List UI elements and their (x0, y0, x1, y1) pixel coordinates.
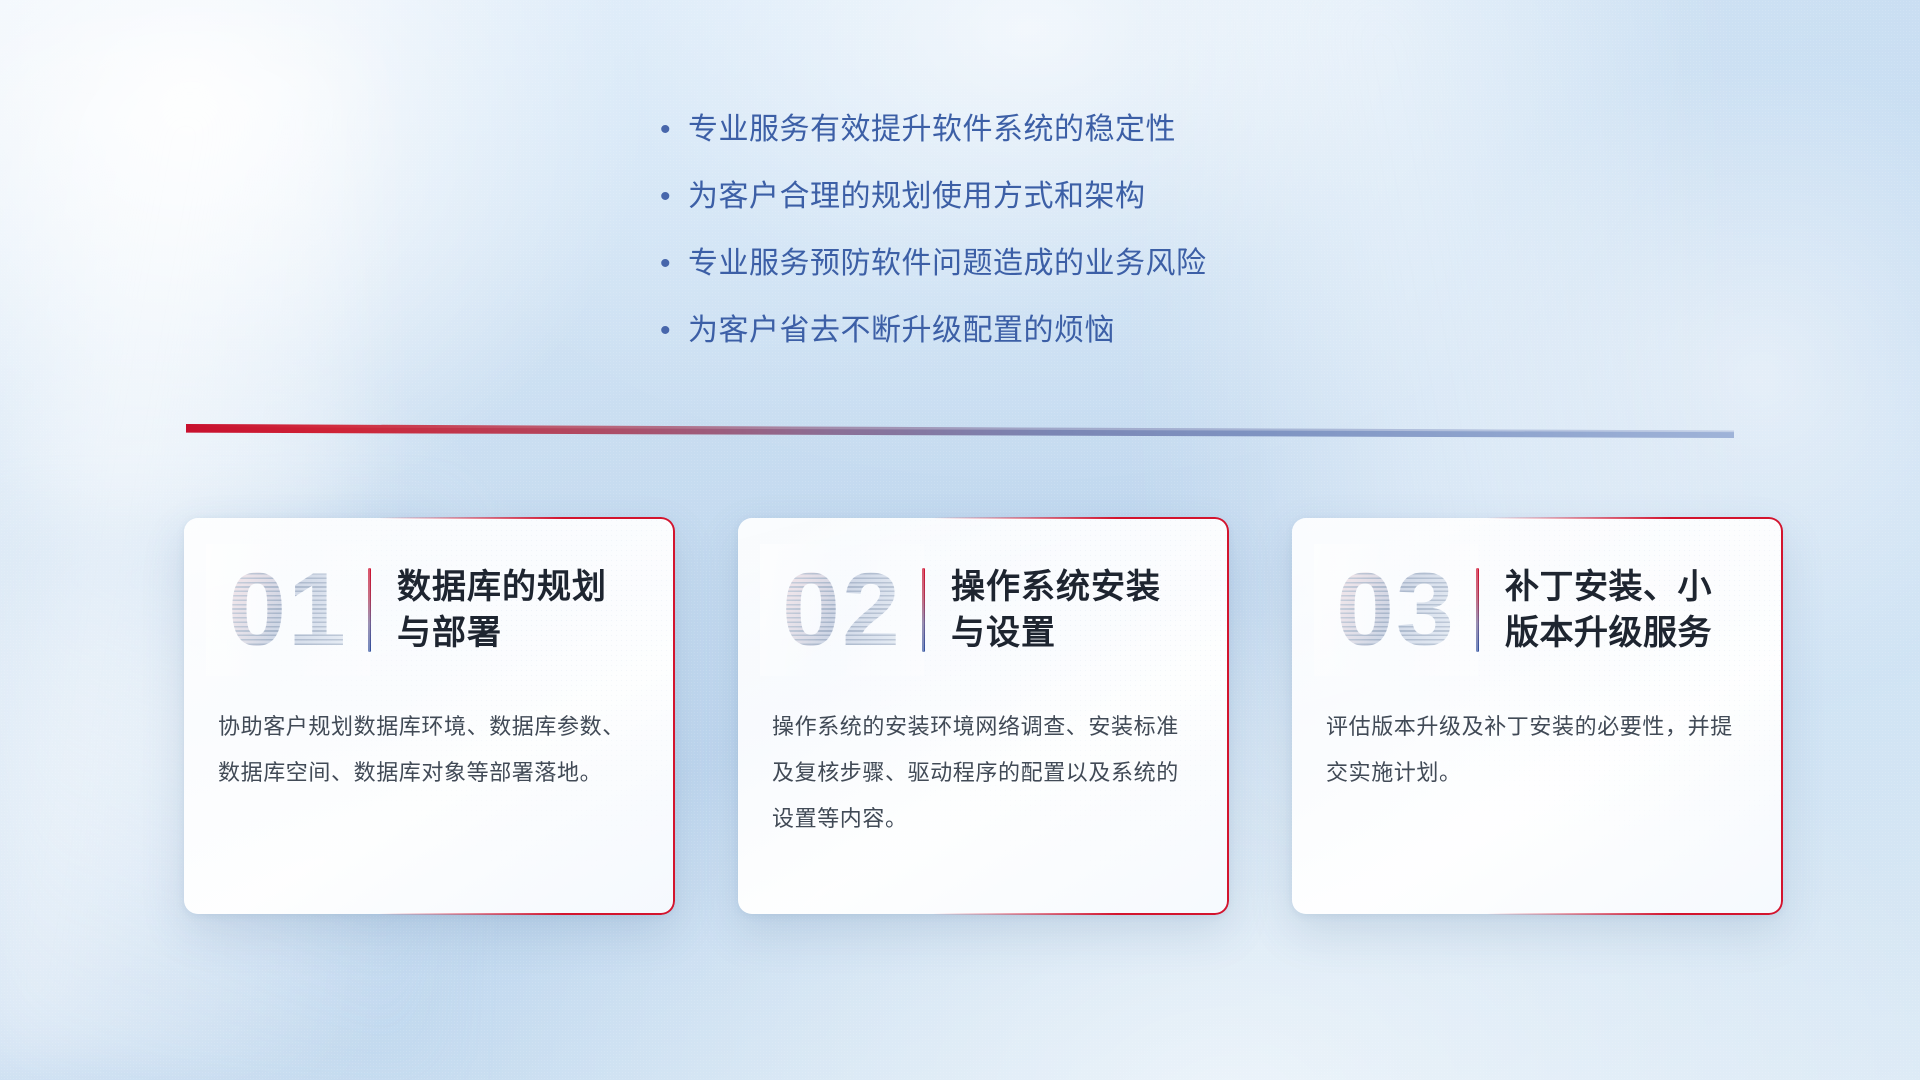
card-title-divider (368, 568, 371, 652)
card-title-divider (1476, 568, 1479, 652)
service-card-list: 01 数据库的规划 与部署 协助客户规划数据库环境、数据库参数、数据库空间、数据… (184, 518, 1782, 914)
bullet-text: 为客户合理的规划使用方式和架构 (688, 179, 1146, 215)
card-header: 03 补丁安装、小 版本升级服务 (1292, 544, 1782, 676)
card-number: 01 (214, 551, 362, 669)
card-header: 01 数据库的规划 与部署 (184, 544, 674, 676)
slide-canvas: • 专业服务有效提升软件系统的稳定性 • 为客户合理的规划使用方式和架构 • 专… (0, 0, 1920, 1080)
benefits-bullet-list: • 专业服务有效提升软件系统的稳定性 • 为客户合理的规划使用方式和架构 • 专… (660, 112, 1420, 380)
card-number: 03 (1322, 551, 1470, 669)
bullet-item: • 为客户合理的规划使用方式和架构 (660, 179, 1420, 215)
card-description: 操作系统的安装环境网络调查、安装标准及复核步骤、驱动程序的配置以及系统的设置等内… (772, 704, 1196, 842)
card-header: 02 操作系统安装 与设置 (738, 544, 1228, 676)
bullet-text: 为客户省去不断升级配置的烦恼 (688, 313, 1115, 349)
bullet-marker-icon: • (660, 246, 688, 282)
card-description: 协助客户规划数据库环境、数据库参数、数据库空间、数据库对象等部署落地。 (218, 704, 642, 796)
card-title: 补丁安装、小 版本升级服务 (1505, 564, 1712, 656)
bullet-item: • 专业服务预防软件问题造成的业务风险 (660, 246, 1420, 282)
bullet-text: 专业服务有效提升软件系统的稳定性 (688, 112, 1176, 148)
card-title: 操作系统安装 与设置 (951, 564, 1161, 656)
service-card[interactable]: 02 操作系统安装 与设置 操作系统的安装环境网络调查、安装标准及复核步骤、驱动… (738, 518, 1228, 914)
card-description: 评估版本升级及补丁安装的必要性，并提交实施计划。 (1326, 704, 1750, 796)
bullet-item: • 专业服务有效提升软件系统的稳定性 (660, 112, 1420, 148)
service-card[interactable]: 01 数据库的规划 与部署 协助客户规划数据库环境、数据库参数、数据库空间、数据… (184, 518, 674, 914)
service-card[interactable]: 03 补丁安装、小 版本升级服务 评估版本升级及补丁安装的必要性，并提交实施计划… (1292, 518, 1782, 914)
gradient-divider (186, 424, 1734, 438)
bullet-marker-icon: • (660, 313, 688, 349)
card-title: 数据库的规划 与部署 (397, 564, 607, 656)
bullet-marker-icon: • (660, 112, 688, 148)
card-number: 02 (768, 551, 916, 669)
card-title-divider (922, 568, 925, 652)
bullet-marker-icon: • (660, 179, 688, 215)
bullet-item: • 为客户省去不断升级配置的烦恼 (660, 313, 1420, 349)
bullet-text: 专业服务预防软件问题造成的业务风险 (688, 246, 1207, 282)
